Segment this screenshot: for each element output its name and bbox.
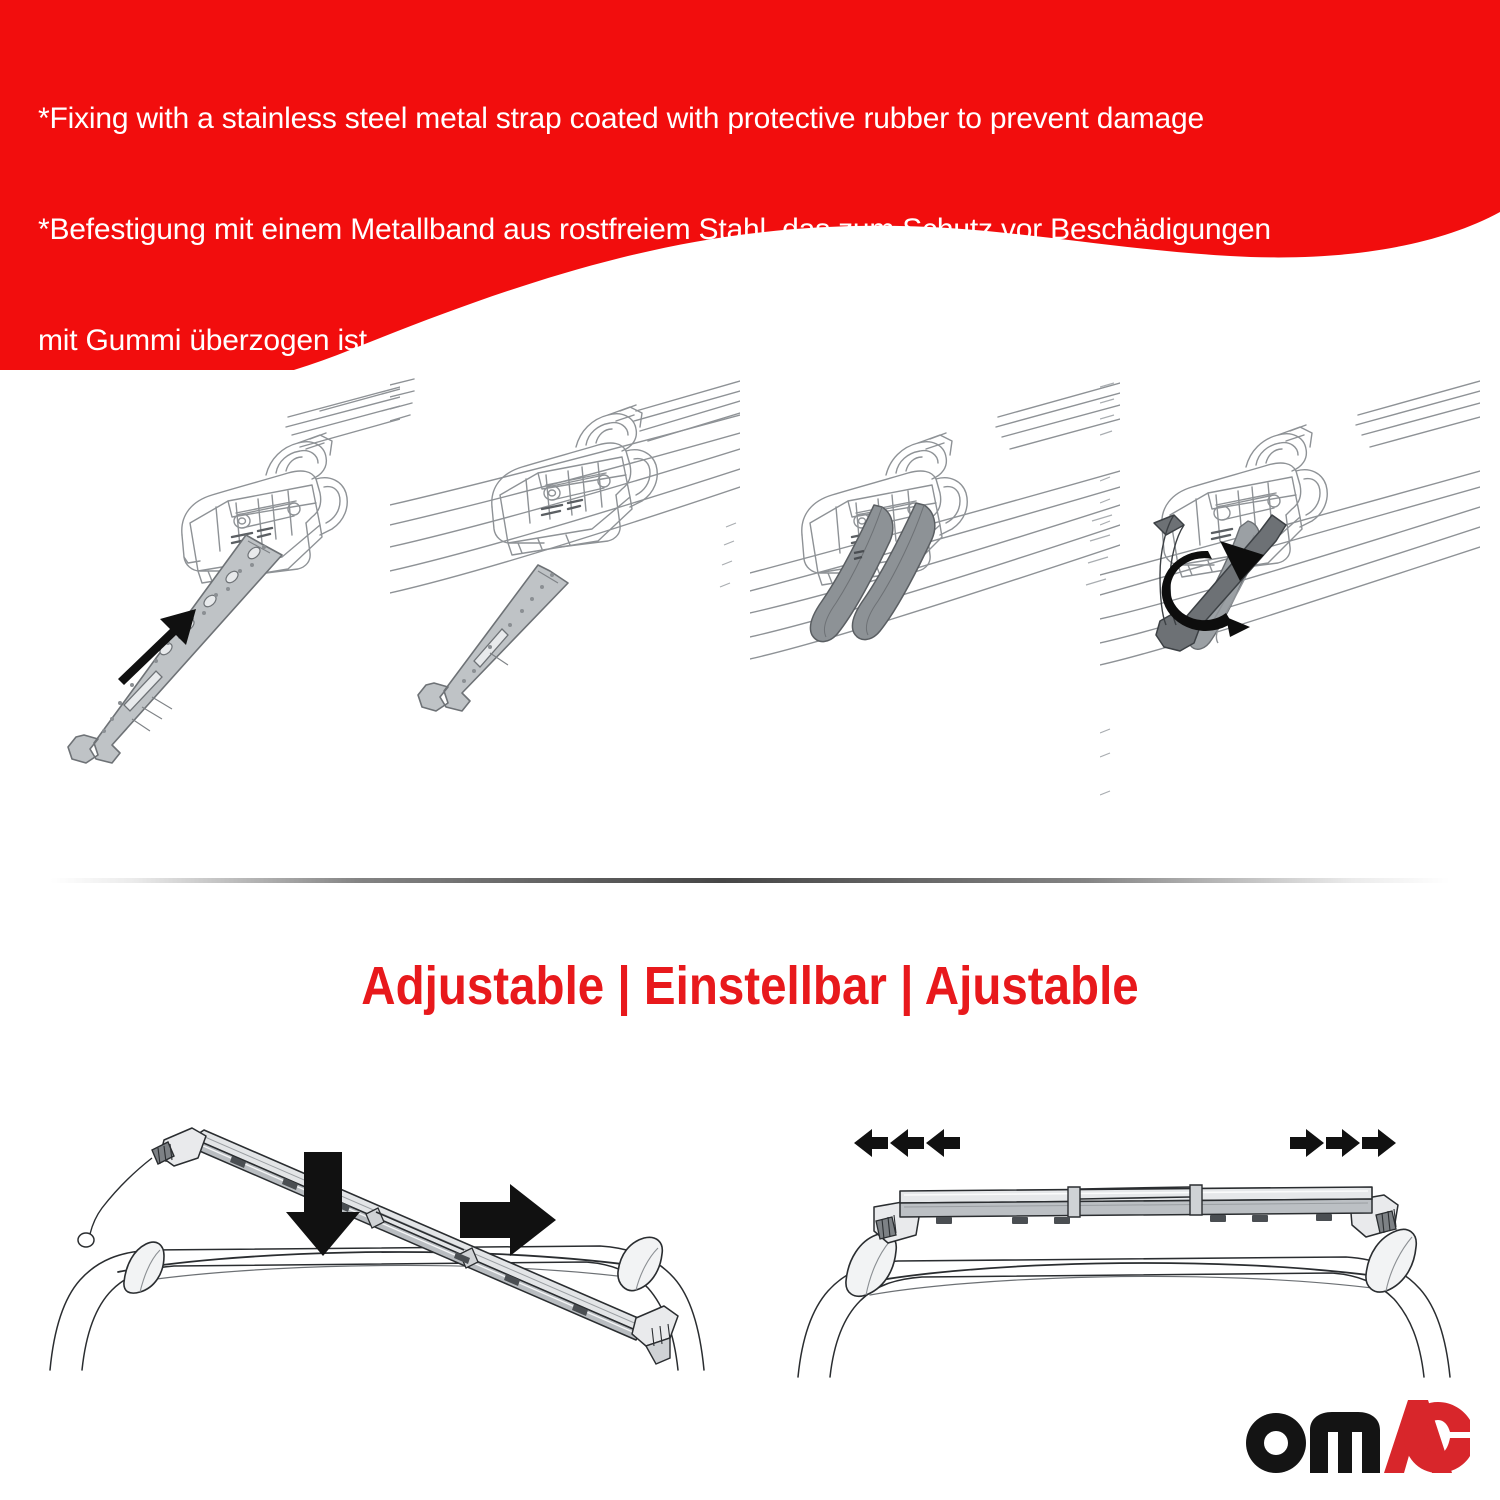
- banner-line-de-2: mit Gummi überzogen ist: [38, 322, 1458, 359]
- triple-left-arrow: [854, 1129, 960, 1157]
- banner-line-en: *Fixing with a stainless steel metal str…: [38, 100, 1458, 137]
- crossbar-placement-diagram: [40, 1080, 740, 1380]
- crossbar: [900, 1185, 1372, 1224]
- header-banner: *Fixing with a stainless steel metal str…: [0, 0, 1500, 370]
- adjustable-heading: Adjustable | Einstellbar | Ajustable: [90, 955, 1410, 1017]
- logo-letter-o: [1246, 1413, 1306, 1473]
- logo-letter-m: [1310, 1412, 1380, 1473]
- installation-steps: [0, 375, 1500, 845]
- section-divider: [50, 878, 1450, 883]
- right-arrow: [460, 1184, 556, 1256]
- product-infographic-page: *Fixing with a stainless steel metal str…: [0, 0, 1500, 1500]
- strap-insert-step: [20, 375, 400, 845]
- triple-right-arrow: [1290, 1129, 1396, 1157]
- metal-strap: [68, 535, 282, 763]
- allen-key-tighten-step: [1100, 375, 1480, 845]
- crossbar-width-adjust-diagram: [790, 1125, 1470, 1385]
- metal-strap: [418, 565, 568, 711]
- banner-line-de-1: *Befestigung mit einem Metallband aus ro…: [38, 211, 1458, 248]
- strap-wrapped-step: [750, 375, 1120, 845]
- omac-logo: [1238, 1398, 1470, 1476]
- foot-on-rail-step: [390, 375, 740, 845]
